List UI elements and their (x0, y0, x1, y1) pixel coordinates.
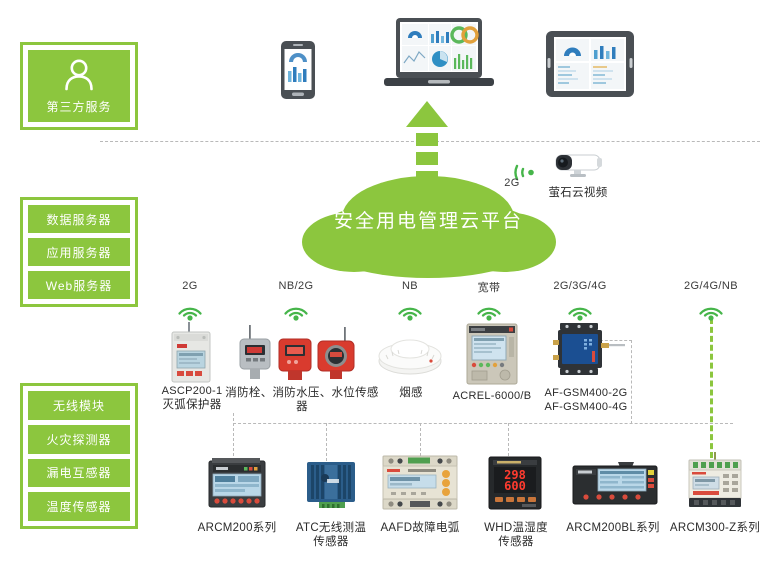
pressure-sensor-icon (236, 325, 361, 388)
label-atc-line1: ATC无线测温 (289, 521, 373, 535)
label-atc-line2: 传感器 (289, 535, 373, 549)
person-icon (61, 58, 97, 95)
net-label-acrel6000: 宽带 (472, 279, 506, 295)
label-aafd-line1: AAFD故障电弧 (378, 521, 462, 535)
net-label-smoke: NB (395, 280, 425, 292)
arcm200bl-icon (572, 462, 658, 511)
device-item-fire-detector[interactable]: 火灾探测器 (28, 425, 130, 454)
third-party-cell: 第三方服务 (28, 50, 130, 122)
upload-arrow-bar-1 (416, 133, 438, 146)
gsm-gateway-icon (548, 322, 628, 383)
arcm200-meter-icon (208, 458, 266, 515)
wifi-icon-acrel6000 (474, 297, 504, 321)
separator-bus (233, 423, 733, 424)
label-arcm200bl-line1: ARCM200BL系列 (558, 521, 668, 535)
tablet-icon (545, 30, 635, 103)
laptop-icon (384, 18, 494, 99)
wifi-icon-ascp200 (175, 297, 205, 321)
label-arcm200-line1: ARCM200系列 (195, 521, 279, 535)
cctv-camera-icon (540, 148, 606, 185)
label-smoke-line1: 烟感 (388, 386, 434, 400)
wifi-icon-gsm400 (565, 297, 595, 321)
smoke-detector-icon (378, 331, 442, 382)
svg-text:600: 600 (504, 479, 526, 493)
panel-field-devices[interactable]: 无线模块 火灾探测器 漏电互感器 温度传感器 (20, 383, 138, 529)
upload-arrow-icon (406, 101, 448, 127)
device-item-leakage-transformer[interactable]: 漏电互感器 (28, 459, 130, 488)
atc200-sensor-icon (305, 458, 357, 515)
panel-third-party-service[interactable]: 第三方服务 (20, 42, 138, 130)
cloud-platform-label: 安全用电管理云平台 (296, 206, 561, 233)
camera-label: 萤石云视频 (538, 186, 618, 200)
label-whd-line1: WHD温湿度 (474, 521, 558, 535)
server-item-data[interactable]: 数据服务器 (28, 205, 130, 233)
server-item-application[interactable]: 应用服务器 (28, 238, 130, 266)
arcm300z-icon (686, 452, 744, 515)
upload-arrow-bar-2 (416, 152, 438, 165)
wifi-icon-smoke (395, 297, 425, 321)
server-item-web[interactable]: Web服务器 (28, 271, 130, 299)
device-item-wireless-module[interactable]: 无线模块 (28, 391, 130, 420)
label-gsm400-line1: AF-GSM400-2G (538, 386, 634, 400)
wifi-icon-arcm300z-link (696, 297, 726, 321)
label-acrel6000-line1: ACREL-6000/B (450, 389, 534, 403)
panel-servers[interactable]: 数据服务器 应用服务器 Web服务器 (20, 197, 138, 307)
wifi-icon-hydrant (281, 297, 311, 321)
bus-drop-1 (233, 413, 234, 461)
wireless-link-arcm300z (710, 318, 713, 458)
net-label-gsm400: 2G/3G/4G (550, 280, 610, 292)
net-label-hydrant: NB/2G (273, 280, 319, 292)
label-arcm300z-line1: ARCM300-Z系列 (660, 521, 770, 535)
diagram-canvas: 第三方服务 数据服务器 应用服务器 Web服务器 无线模块 火灾探测器 漏电互感… (0, 0, 783, 561)
arc-protector-icon (168, 322, 214, 389)
net-label-arcm300z-link: 2G/4G/NB (681, 280, 741, 292)
smartphone-icon (280, 40, 316, 105)
label-hydrant-line1: 消防栓、消防水压、水位传感器 (222, 386, 382, 414)
camera-network-label: 2G (500, 177, 524, 189)
bus-drop-2 (326, 423, 327, 461)
fire-host-icon (466, 323, 518, 390)
aafd-arc-icon (382, 455, 458, 516)
whd-temp-humidity-icon: 298 600 (488, 456, 542, 515)
net-label-ascp200: 2G (172, 280, 208, 292)
label-gsm400-line2: AF-GSM400-4G (538, 400, 634, 414)
device-item-temperature-sensor[interactable]: 温度传感器 (28, 492, 130, 521)
label-whd-line2: 传感器 (474, 535, 558, 549)
third-party-label: 第三方服务 (46, 98, 111, 115)
